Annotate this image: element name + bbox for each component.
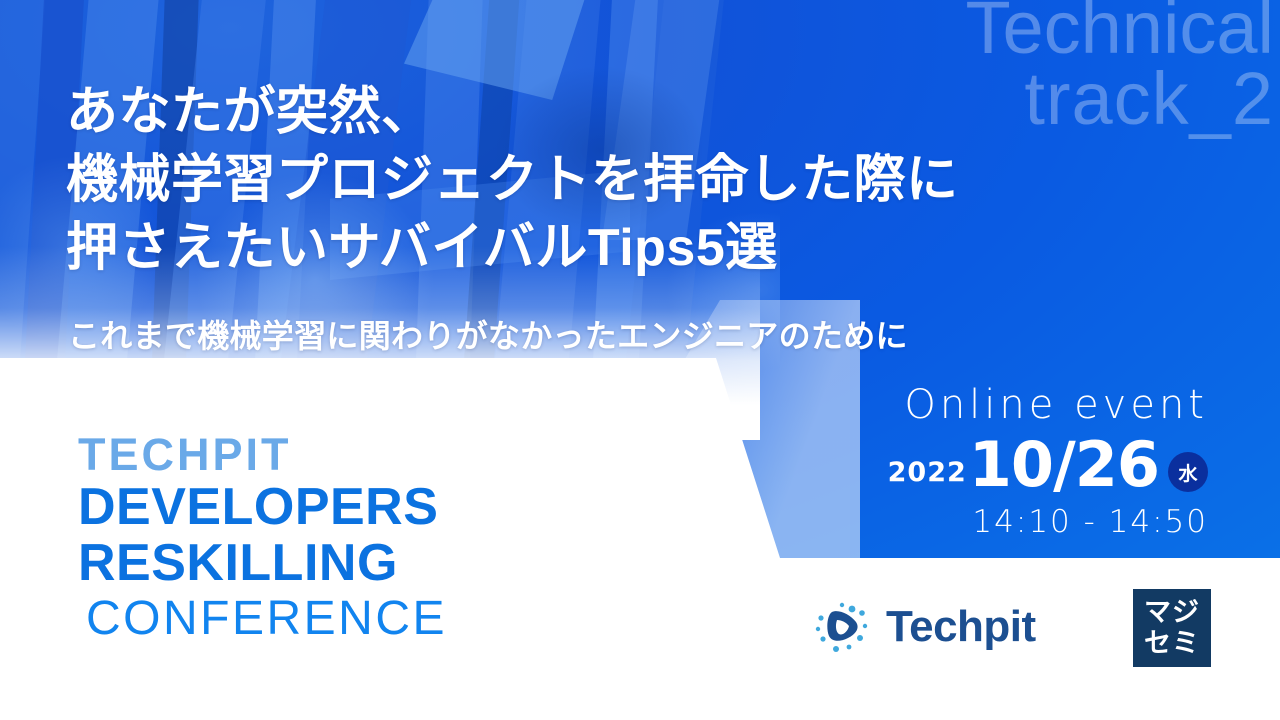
event-date: 2022 10/26 水 xyxy=(778,434,1208,496)
event-time-range: 14:10 - 14:50 xyxy=(778,504,1208,540)
page-subtitle: これまで機械学習に関わりがなかったエンジニアのために xyxy=(68,316,908,356)
techpit-logo: Techpit xyxy=(812,596,1036,658)
techpit-wordmark: Techpit xyxy=(886,602,1036,652)
track-label-line2: track_2 xyxy=(965,63,1274,134)
event-format-label: Online event xyxy=(778,382,1208,428)
majisemi-logo: マジ セミ xyxy=(1133,589,1211,667)
techpit-mark-icon xyxy=(812,596,874,658)
event-banner: Technical track_2 あなたが突然、 機械学習プロジェクトを拝命し… xyxy=(0,0,1280,720)
conference-logo: TECHPIT DEVELOPERS RESKILLING CONFERENCE xyxy=(78,432,447,643)
title-line-3: 押さえたいサバイバルTips5選 xyxy=(66,214,959,282)
track-label: Technical track_2 xyxy=(965,0,1274,134)
event-day-of-week-badge: 水 xyxy=(1168,452,1208,492)
event-year: 2022 xyxy=(888,457,969,496)
conference-logo-line-2: DEVELOPERS xyxy=(78,481,447,533)
majisemi-line-2: セミ xyxy=(1144,628,1200,659)
page-title: あなたが突然、 機械学習プロジェクトを拝命した際に 押さえたいサバイバルTips… xyxy=(66,78,959,282)
majisemi-line-1: マジ xyxy=(1144,597,1200,628)
title-line-1: あなたが突然、 xyxy=(66,78,959,146)
title-line-2: 機械学習プロジェクトを拝命した際に xyxy=(66,146,959,214)
event-month-day: 10/26 xyxy=(969,434,1159,496)
conference-logo-line-1: TECHPIT xyxy=(78,432,447,477)
conference-logo-line-4: CONFERENCE xyxy=(86,595,447,643)
event-info: Online event 2022 10/26 水 14:10 - 14:50 xyxy=(778,382,1208,540)
conference-logo-line-3: RESKILLING xyxy=(78,537,447,589)
